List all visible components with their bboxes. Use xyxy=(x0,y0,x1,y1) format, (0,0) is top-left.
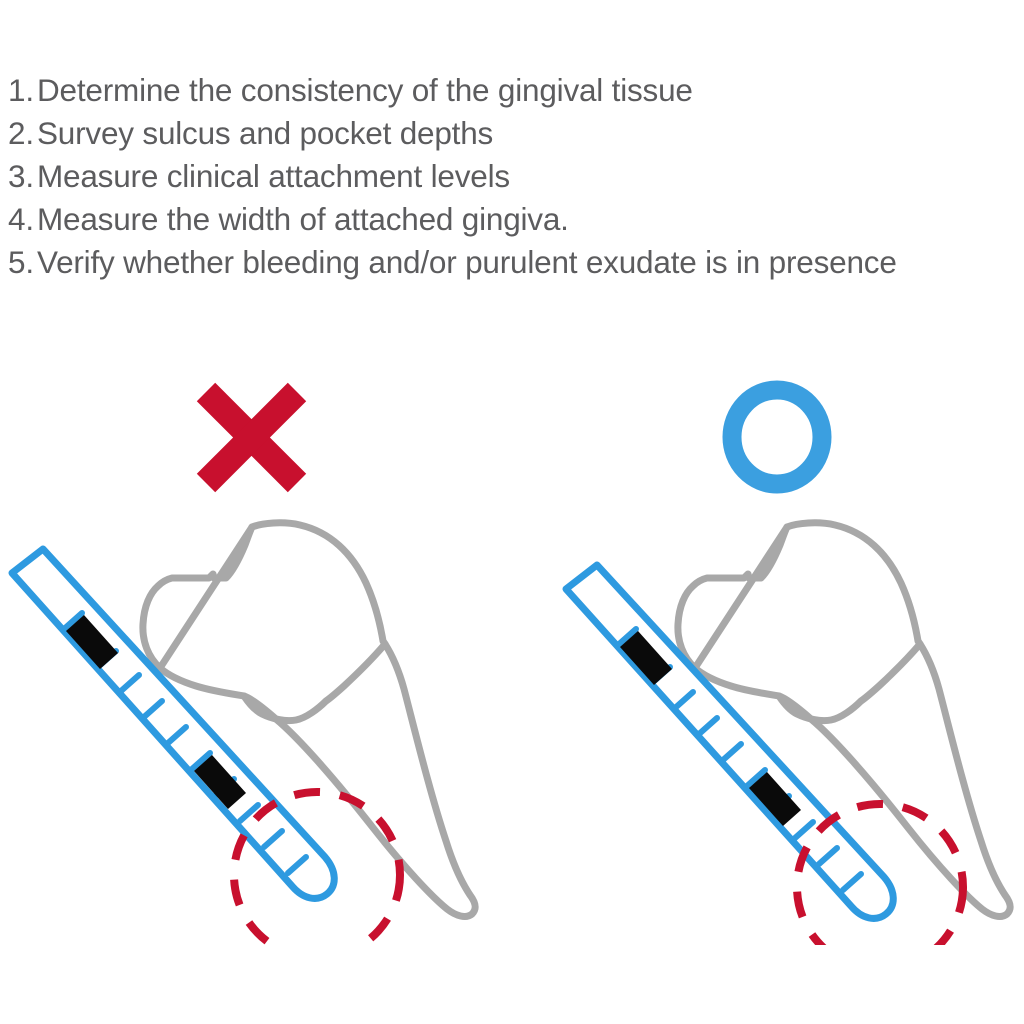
list-item: 1. Determine the consistency of the ging… xyxy=(0,72,1024,115)
cross-mark-icon xyxy=(206,392,297,483)
list-item-text: Measure the width of attached gingiva. xyxy=(37,201,569,238)
list-item: 2. Survey sulcus and pocket depths xyxy=(0,115,1024,158)
correct-probe-placement xyxy=(512,505,1024,945)
list-item-number: 5. xyxy=(0,244,37,281)
list-item-text: Measure clinical attachment levels xyxy=(37,158,510,195)
list-item: 3. Measure clinical attachment levels xyxy=(0,158,1024,201)
list-item-number: 4. xyxy=(0,201,37,238)
incorrect-probe-placement xyxy=(0,505,512,945)
list-item-text: Verify whether bleeding and/or purulent … xyxy=(37,244,897,281)
page-root: 1. Determine the consistency of the ging… xyxy=(0,0,1024,1024)
instruction-list: 1. Determine the consistency of the ging… xyxy=(0,72,1024,287)
list-item-number: 3. xyxy=(0,158,37,195)
list-item-number: 2. xyxy=(0,115,37,152)
correct-diagram-svg xyxy=(512,505,1024,945)
list-item-text: Survey sulcus and pocket depths xyxy=(37,115,493,152)
list-item: 5. Verify whether bleeding and/or purule… xyxy=(0,244,1024,287)
list-item: 4. Measure the width of attached gingiva… xyxy=(0,201,1024,244)
list-item-text: Determine the consistency of the gingiva… xyxy=(37,72,693,109)
list-item-number: 1. xyxy=(0,72,37,109)
circle-mark-icon xyxy=(732,390,822,484)
incorrect-diagram-svg xyxy=(0,505,512,945)
